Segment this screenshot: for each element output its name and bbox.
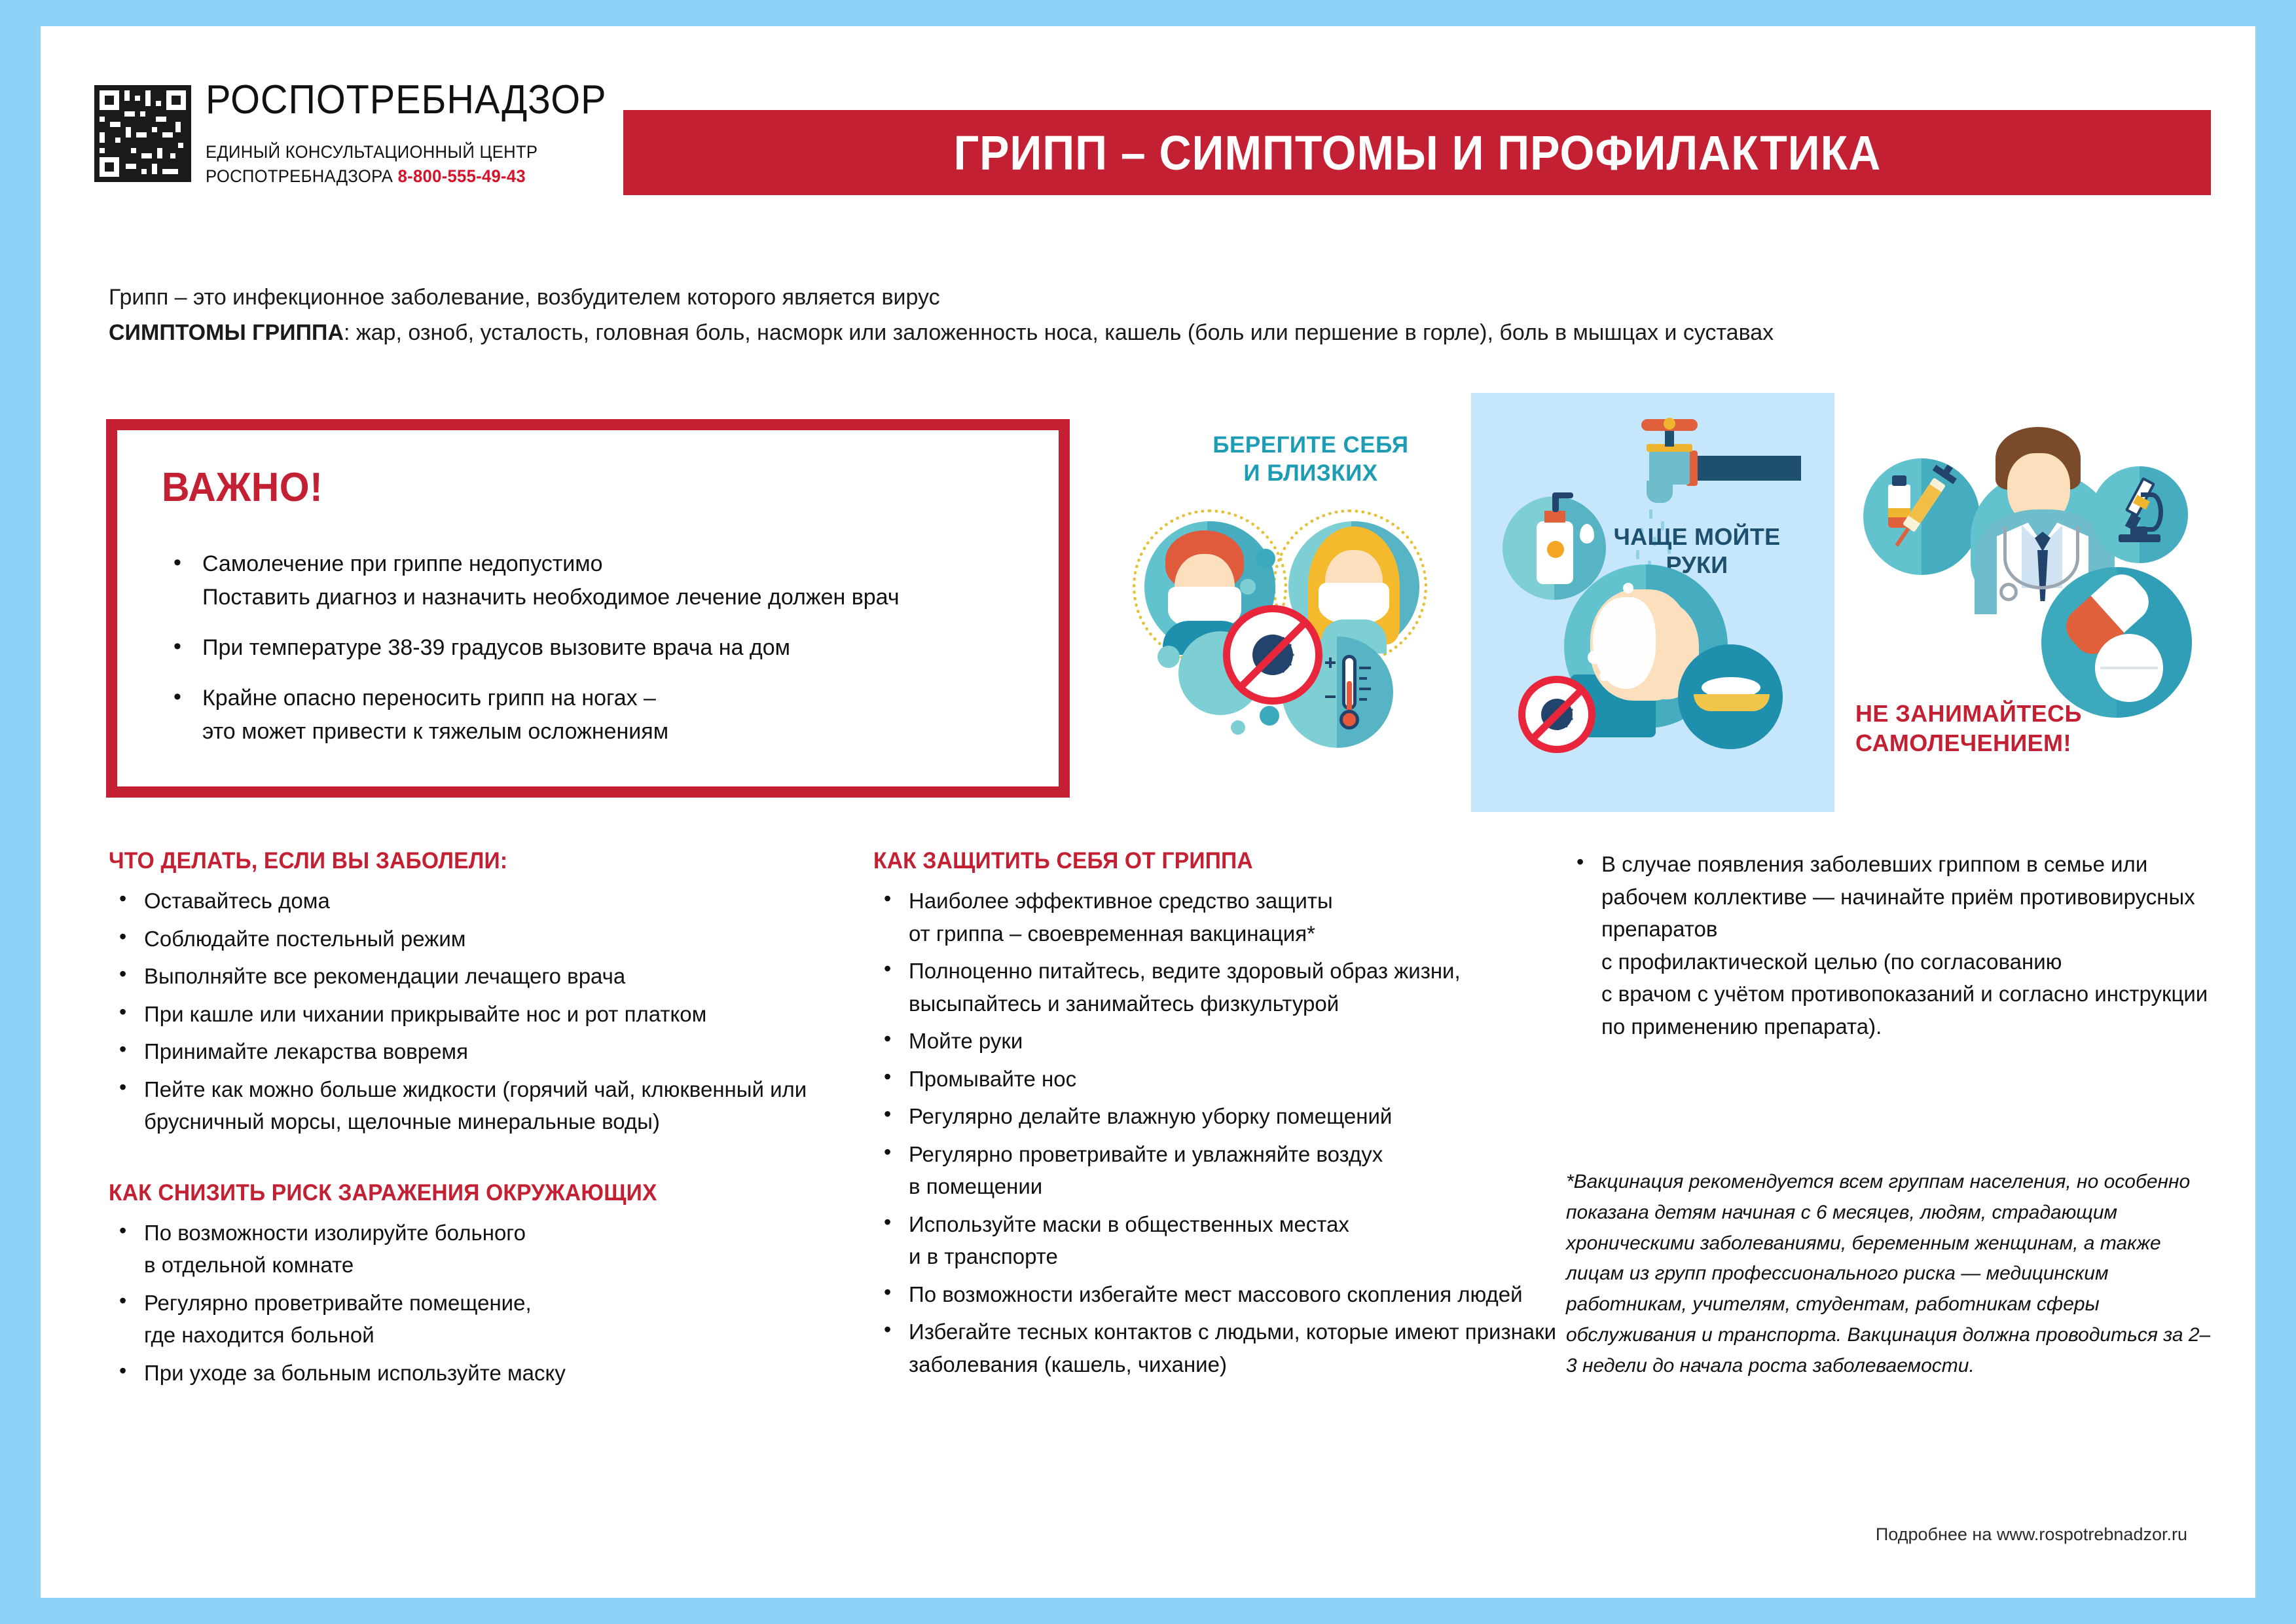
soap-bubble-icon xyxy=(1599,672,1609,681)
list-item: При кашле или чихании прикрывайте нос и … xyxy=(109,998,835,1031)
vaccination-footnote: *Вакцинация рекомендуется всем группам н… xyxy=(1566,1167,2221,1382)
no-virus-icon xyxy=(1518,676,1595,753)
important-heading: ВАЖНО! xyxy=(162,464,979,511)
list-item: Оставайтесь дома xyxy=(109,885,835,917)
section-heading-reduce-risk: КАК СНИЗИТЬ РИСК ЗАРАЖЕНИЯ ОКРУЖАЮЩИХ xyxy=(109,1180,807,1206)
soap-bubble-icon xyxy=(1623,583,1633,593)
list-item: При температуре 38-39 градусов вызовите … xyxy=(162,631,1022,665)
list-item: Пейте как можно больше жидкости (горячий… xyxy=(109,1073,835,1138)
list-item: Полноценно питайтесь, ведите здоровый об… xyxy=(873,955,1567,1020)
list-item: Мойте руки xyxy=(873,1025,1567,1058)
section-heading-sick: ЧТО ДЕЛАТЬ, ЕСЛИ ВЫ ЗАБОЛЕЛИ: xyxy=(109,848,807,874)
more-info-link[interactable]: Подробнее на www.rospotrebnadzor.ru xyxy=(1876,1524,2187,1545)
list-item: Регулярно проветривайте помещение,где на… xyxy=(109,1287,835,1352)
poster-page: РОСПОТРЕБНАДЗОР ЕДИНЫЙ КОНСУЛЬТАЦИОННЫЙ … xyxy=(41,26,2255,1598)
illustration-protect-yourself: БЕРЕГИТЕ СЕБЯ И БЛИЗКИХ xyxy=(1127,393,1494,812)
list-family: В случае появления заболевших гриппом в … xyxy=(1566,848,2221,1043)
faucet-icon xyxy=(1609,418,1805,509)
caption-no-self-medication: НЕ ЗАНИМАЙТЕСЬ САМОЛЕЧЕНИЕМ! xyxy=(1855,699,2082,758)
list-item: Соблюдайте постельный режим xyxy=(109,923,835,955)
important-list: Самолечение при гриппе недопустимоПостав… xyxy=(162,547,1022,748)
list-item: Регулярно делайте влажную уборку помещен… xyxy=(873,1100,1567,1133)
important-callout-box: ВАЖНО! Самолечение при гриппе недопустим… xyxy=(106,419,1070,798)
list-item: Крайне опасно переносить грипп на ногах … xyxy=(162,682,1022,748)
page-title-banner: ГРИПП – СИМПТОМЫ И ПРОФИЛАКТИКА xyxy=(623,110,2211,195)
column-right: В случае появления заболевших гриппом в … xyxy=(1566,848,2221,1382)
symptoms-label: СИМПТОМЫ ГРИППА xyxy=(109,320,344,345)
list-item: Самолечение при гриппе недопустимоПостав… xyxy=(162,547,1022,614)
intro-line1: Грипп – это инфекционное заболевание, во… xyxy=(109,280,2204,316)
virus-icon xyxy=(1252,635,1293,675)
brand-name: РОСПОТРЕБНАДЗОР xyxy=(206,80,606,120)
section-heading-protect: КАК ЗАЩИТИТЬ СЕБЯ ОТ ГРИППА xyxy=(873,848,1540,874)
poster-header: РОСПОТРЕБНАДЗОР ЕДИНЫЙ КОНСУЛЬТАЦИОННЫЙ … xyxy=(41,26,2255,203)
list-protect: Наиболее эффективное средство защитыот г… xyxy=(873,885,1567,1380)
page-title: ГРИПП – СИМПТОМЫ И ПРОФИЛАКТИКА xyxy=(953,125,1881,181)
virus-icon xyxy=(1541,699,1573,730)
list-item: При уходе за больным используйте маску xyxy=(109,1357,835,1390)
illustration-wash-hands: ЧАЩЕ МОЙТЕ РУКИ xyxy=(1471,393,1834,812)
decorative-dot xyxy=(1157,646,1180,668)
list-item: В случае появления заболевших гриппом в … xyxy=(1566,848,2221,1043)
hotline-phone: 8-800-555-49-43 xyxy=(398,166,526,186)
water-drop-icon xyxy=(1580,524,1594,544)
decorative-dot xyxy=(1260,706,1279,726)
list-item: По возможности изолируйте больногов отде… xyxy=(109,1217,835,1282)
list-item: По возможности избегайте мест массового … xyxy=(873,1278,1567,1311)
symptoms-text: : жар, озноб, усталость, головная боль, … xyxy=(344,320,1774,345)
illustration-no-self-medication: НЕ ЗАНИМАЙТЕСЬ САМОЛЕЧЕНИЕМ! xyxy=(1848,393,2240,812)
list-item: Наиболее эффективное средство защитыот г… xyxy=(873,885,1567,950)
soap-dish-icon xyxy=(1694,677,1770,716)
decorative-dot xyxy=(1231,720,1245,735)
list-item: Используйте маски в общественных местахи… xyxy=(873,1208,1567,1273)
intro-symptoms: СИМПТОМЫ ГРИППА: жар, озноб, усталость, … xyxy=(109,316,2204,351)
list-item: Регулярно проветривайте и увлажняйте воз… xyxy=(873,1138,1567,1203)
decorative-dot xyxy=(1240,579,1256,595)
list-reduce-risk: По возможности изолируйте больногов отде… xyxy=(109,1217,835,1390)
face-mask-icon xyxy=(1319,583,1389,625)
tablet-icon xyxy=(2095,634,2163,702)
list-item: Выполняйте все рекомендации лечащего вра… xyxy=(109,960,835,993)
column-middle: КАК ЗАЩИТИТЬ СЕБЯ ОТ ГРИППА Наиболее эфф… xyxy=(873,848,1567,1386)
list-sick: Оставайтесь дома Соблюдайте постельный р… xyxy=(109,885,835,1138)
decorative-dot xyxy=(1256,549,1275,568)
caption-protect: БЕРЕГИТЕ СЕБЯ И БЛИЗКИХ xyxy=(1127,431,1494,488)
brand-sub-line2: РОСПОТРЕБНАДЗОРА 8-800-555-49-43 xyxy=(206,164,615,189)
qr-code-icon xyxy=(94,85,191,182)
list-item: Промывайте нос xyxy=(873,1063,1567,1096)
list-item: Принимайте лекарства вовремя xyxy=(109,1035,835,1068)
thermometer-icon xyxy=(1322,655,1375,736)
brand-sub-line1: ЕДИНЫЙ КОНСУЛЬТАЦИОННЫЙ ЦЕНТР xyxy=(206,140,615,164)
microscope-icon xyxy=(2107,478,2175,550)
list-item: Избегайте тесных контактов с людьми, кот… xyxy=(873,1316,1567,1380)
no-virus-icon xyxy=(1223,605,1322,705)
brand-block: РОСПОТРЕБНАДЗОР ЕДИНЫЙ КОНСУЛЬТАЦИОННЫЙ … xyxy=(206,80,637,189)
column-left: ЧТО ДЕЛАТЬ, ЕСЛИ ВЫ ЗАБОЛЕЛИ: Оставайтес… xyxy=(109,848,835,1394)
illustration-strip: БЕРЕГИТЕ СЕБЯ И БЛИЗКИХ xyxy=(1088,393,2247,812)
intro-text: Грипп – это инфекционное заболевание, во… xyxy=(109,280,2204,350)
brand-subtitle: ЕДИНЫЙ КОНСУЛЬТАЦИОННЫЙ ЦЕНТР РОСПОТРЕБН… xyxy=(206,140,615,189)
soap-bubble-icon xyxy=(1588,651,1601,664)
soap-dispenser-icon xyxy=(1537,521,1573,584)
